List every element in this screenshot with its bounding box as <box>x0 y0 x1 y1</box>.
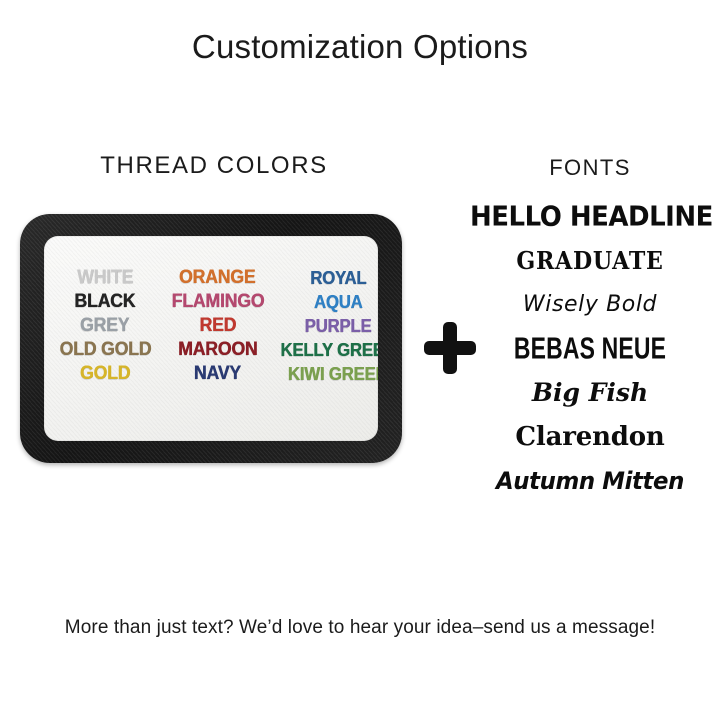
font-sample-big-fish: Big Fish <box>470 371 710 415</box>
thread-swatch-flamingo: FLAMINGO <box>171 290 264 314</box>
page-title: Customization Options <box>0 28 720 66</box>
thread-swatch-purple: PURPLE <box>305 314 372 338</box>
thread-swatch-red: RED <box>199 314 236 338</box>
thread-swatch-aqua: AQUA <box>314 290 363 314</box>
thread-swatch-navy: NAVY <box>194 362 241 386</box>
thread-color-column-2: ORANGE FLAMINGO RED MAROON NAVY <box>160 266 275 386</box>
thread-swatch-kelly-green: KELLY GREEN <box>280 338 378 362</box>
thread-swatch-kiwi-green: KIWI GREEN <box>288 362 378 386</box>
thread-swatch-royal: ROYAL <box>310 266 366 290</box>
font-sample-wisely-bold: Wisely Bold <box>470 283 710 327</box>
patch-face: WHITE BLACK GREY OLD GOLD GOLD ORANGE FL… <box>44 236 378 441</box>
thread-color-columns: WHITE BLACK GREY OLD GOLD GOLD ORANGE FL… <box>44 266 378 386</box>
fonts-list: HELLO HEADLINE GRADUATE Wisely Bold BEBA… <box>470 195 710 503</box>
fonts-heading: FONTS <box>470 155 710 181</box>
thread-swatch-maroon: MAROON <box>178 338 257 362</box>
plus-icon-vertical-bar <box>443 322 457 374</box>
thread-color-patch: WHITE BLACK GREY OLD GOLD GOLD ORANGE FL… <box>20 214 402 463</box>
thread-swatch-black: BLACK <box>75 290 136 314</box>
plus-icon <box>424 322 476 374</box>
font-sample-autumn-mitten: Autumn Mitten <box>476 459 704 503</box>
thread-swatch-old-gold: OLD GOLD <box>59 338 151 362</box>
thread-colors-heading: THREAD COLORS <box>24 152 404 180</box>
font-sample-graduate: GRADUATE <box>480 239 701 283</box>
footer-note: More than just text? We’d love to hear y… <box>0 617 720 639</box>
thread-swatch-orange: ORANGE <box>179 266 255 290</box>
thread-color-column-1: WHITE BLACK GREY OLD GOLD GOLD <box>50 266 160 386</box>
thread-swatch-gold: GOLD <box>80 362 130 386</box>
font-sample-bebas-neue: BEBAS NEUE <box>492 325 689 373</box>
thread-swatch-white: WHITE <box>77 266 133 290</box>
thread-swatch-grey: GREY <box>80 314 129 338</box>
font-sample-clarendon: Clarendon <box>470 415 710 459</box>
font-sample-hello-headline: HELLO HEADLINE <box>470 194 710 240</box>
thread-color-column-3: ROYAL AQUA PURPLE KELLY GREEN KIWI GREEN <box>275 266 378 386</box>
